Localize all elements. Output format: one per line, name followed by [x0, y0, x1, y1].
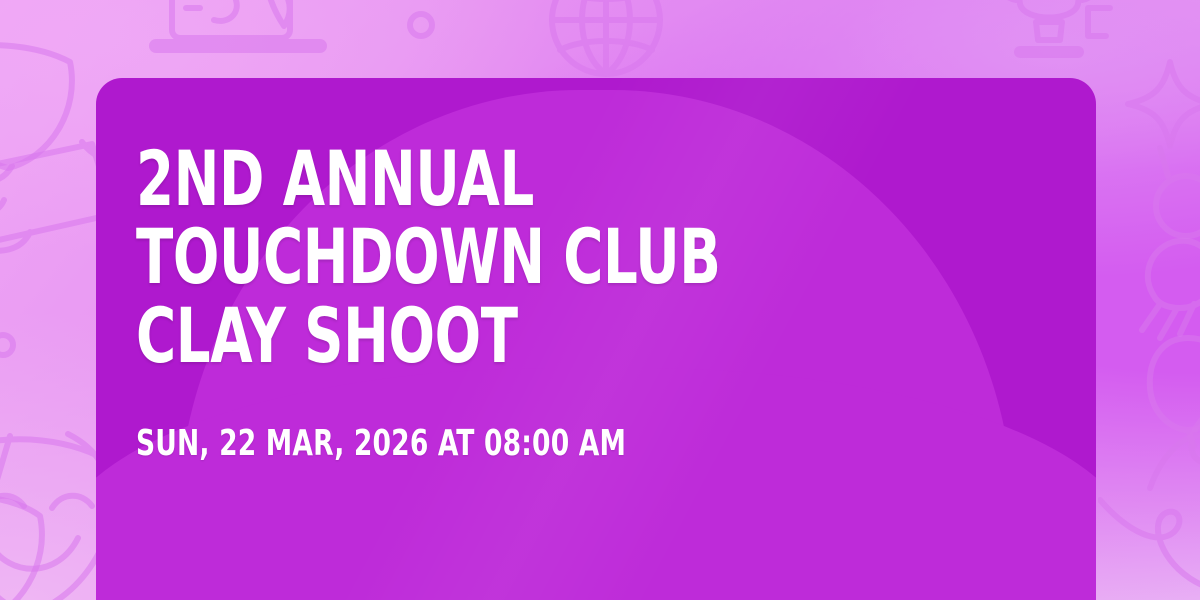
card-content: 2nd Annual Touchdown Club Clay Shoot Sun…	[136, 140, 1056, 464]
event-datetime: Sun, 22 Mar, 2026 at 08:00 AM	[136, 423, 890, 464]
event-card[interactable]: 2nd Annual Touchdown Club Clay Shoot Sun…	[96, 78, 1096, 600]
event-banner: 2nd Annual Touchdown Club Clay Shoot Sun…	[0, 0, 1200, 600]
event-title: 2nd Annual Touchdown Club Clay Shoot	[136, 140, 872, 375]
